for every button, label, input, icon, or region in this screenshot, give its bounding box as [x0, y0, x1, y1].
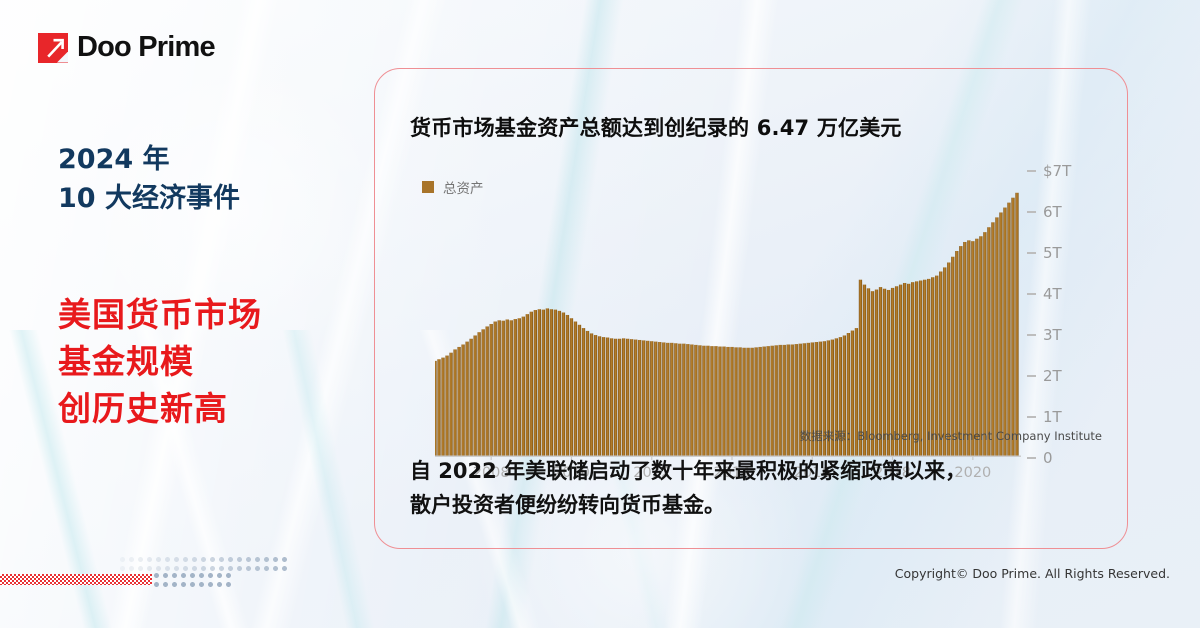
chart-bar: [642, 340, 645, 456]
chart-bar: [959, 246, 962, 456]
chart-bar: [586, 331, 589, 456]
chart-bar: [494, 322, 497, 456]
chart-bar: [478, 332, 481, 456]
y-tick-dash-icon: [1027, 170, 1036, 172]
y-tick-label: $7T: [1043, 162, 1071, 180]
chart-bar: [983, 232, 986, 456]
chart-bar: [694, 345, 697, 456]
chart-bar: [486, 326, 489, 456]
chart-bar: [506, 319, 509, 456]
chart-bar: [750, 348, 753, 456]
chart-bar: [638, 340, 641, 456]
y-tick-dash-icon: [1027, 293, 1036, 295]
page-subheadline: 美国货币市场 基金规模 创历史新高: [58, 292, 388, 433]
y-axis-tick: 3T: [1027, 326, 1062, 344]
chart-bar: [614, 339, 617, 456]
chart-bar: [702, 346, 705, 456]
chart-bar: [510, 320, 513, 456]
chart-bar: [554, 310, 557, 456]
subhead-line-3: 创历史新高: [58, 386, 388, 433]
chart-bar: [441, 358, 444, 456]
chart-bar: [654, 342, 657, 456]
y-tick-label: 2T: [1043, 367, 1062, 385]
chart-bar: [791, 344, 794, 456]
chart-bar: [570, 318, 573, 456]
chart-bar: [514, 319, 517, 456]
chart-bar: [518, 318, 521, 456]
chart-bar: [598, 336, 601, 456]
chart-bar: [594, 335, 597, 456]
chart-bar: [690, 344, 693, 456]
chart-bar: [566, 315, 569, 456]
chart-bar: [658, 342, 661, 456]
legend-swatch-icon: [422, 181, 434, 193]
headline-line-2: 10 大经济事件: [58, 179, 388, 218]
chart-bar: [602, 337, 605, 456]
chart-bar: [546, 308, 549, 456]
chart-bar: [718, 347, 721, 456]
chart-bar: [995, 217, 998, 456]
brand-logo[interactable]: Doo Prime: [38, 31, 215, 64]
chart-bar: [698, 345, 701, 456]
y-axis-tick: $7T: [1027, 162, 1071, 180]
chart-bar: [947, 262, 950, 456]
chart-bar: [987, 227, 990, 456]
y-axis-tick: 4T: [1027, 285, 1062, 303]
chart-bar: [706, 346, 709, 456]
chart-bar: [435, 361, 437, 456]
chart-bar: [534, 310, 537, 456]
y-tick-label: 6T: [1043, 203, 1062, 221]
chart-bar: [482, 329, 485, 456]
body-line-2: 散户投资者便纷纷转向货币基金。: [410, 488, 1100, 522]
chart-source-note: 数据来源：Bloomberg, Investment Company Insti…: [800, 428, 1102, 444]
y-axis-tick: 1T: [1027, 408, 1062, 426]
chart-bar: [775, 345, 778, 456]
chart-bar: [578, 325, 581, 456]
chart-bar: [766, 346, 769, 456]
chart-bar: [453, 349, 456, 456]
chart-bar: [473, 335, 476, 456]
y-tick-dash-icon: [1027, 375, 1036, 377]
chart-bar: [662, 342, 665, 456]
chart-bar: [634, 340, 637, 456]
decorative-red-band: [0, 574, 152, 585]
y-axis-tick: 5T: [1027, 244, 1062, 262]
chart-bar: [771, 346, 774, 456]
chart-y-axis: 01T2T3T4T5T6T$7T: [1027, 165, 1117, 465]
chart-bar: [795, 344, 798, 456]
chart-bar: [979, 236, 982, 456]
chart-bar: [787, 344, 790, 456]
chart-bar: [971, 241, 974, 456]
chart-card: 货币市场基金资产总额达到创纪录的 6.47 万亿美元 总资产 01T2T3T4T…: [374, 68, 1128, 549]
y-tick-label: 3T: [1043, 326, 1062, 344]
chart-bars: [435, 164, 1021, 460]
y-tick-dash-icon: [1027, 252, 1036, 254]
y-tick-label: 1T: [1043, 408, 1062, 426]
chart-bar: [618, 339, 621, 456]
chart-bar: [522, 317, 525, 456]
chart-bar: [670, 343, 673, 456]
chart-bar: [682, 344, 685, 456]
chart-bar: [449, 353, 452, 456]
chart-bar: [678, 344, 681, 456]
chart-bar: [1015, 193, 1018, 456]
subhead-line-1: 美国货币市场: [58, 292, 388, 339]
chart-bar: [779, 345, 782, 456]
page-headline: 2024 年 10 大经济事件: [58, 140, 388, 218]
chart-bar: [963, 242, 966, 456]
brand-name: Doo Prime: [77, 31, 215, 64]
chart-bar: [445, 356, 448, 456]
chart-bar: [582, 328, 585, 456]
chart-bar: [742, 348, 745, 456]
y-tick-label: 5T: [1043, 244, 1062, 262]
chart-bar: [991, 222, 994, 456]
chart-bar: [469, 339, 472, 456]
chart-bar: [457, 347, 460, 456]
chart-bar: [754, 347, 757, 456]
chart-bar: [686, 344, 689, 456]
chart-bar: [999, 212, 1002, 456]
chart-bar: [502, 321, 505, 456]
chart-bar: [622, 338, 625, 456]
subhead-line-2: 基金规模: [58, 339, 388, 386]
chart-bar: [726, 347, 729, 456]
chart-bar: [1003, 208, 1006, 456]
body-line-1: 自 2022 年美联储启动了数十年来最积极的紧缩政策以来，: [410, 454, 1100, 488]
chart-plot-area: [435, 164, 1021, 460]
chart-bar: [461, 344, 464, 456]
chart-bar: [746, 348, 749, 456]
headline-line-1: 2024 年: [58, 140, 388, 179]
chart-bar: [574, 322, 577, 456]
chart-bar: [674, 343, 677, 456]
y-tick-dash-icon: [1027, 416, 1036, 418]
copyright-notice: Copyright© Doo Prime. All Rights Reserve…: [895, 566, 1170, 581]
doo-prime-logo-icon: [38, 33, 68, 63]
chart-bar: [498, 320, 501, 456]
chart-bar: [490, 324, 493, 456]
y-tick-dash-icon: [1027, 334, 1036, 336]
chart-bar: [967, 240, 970, 456]
chart-bar: [526, 314, 529, 456]
y-axis-tick: 6T: [1027, 203, 1062, 221]
chart-bar: [975, 239, 978, 456]
chart-bar: [650, 341, 653, 456]
chart-bar: [538, 309, 541, 456]
y-tick-label: 4T: [1043, 285, 1062, 303]
chart-bar: [951, 257, 954, 456]
chart-bar: [762, 347, 765, 456]
y-tick-dash-icon: [1027, 211, 1036, 213]
chart-bar: [722, 347, 725, 456]
chart-bar: [783, 345, 786, 456]
chart-bar: [666, 343, 669, 456]
chart-bar: [437, 359, 440, 456]
chart-bar: [590, 333, 593, 456]
decorative-accent: [0, 555, 300, 595]
chart-bar: [1011, 198, 1014, 456]
chart-bar: [550, 309, 553, 456]
chart-bar: [734, 347, 737, 456]
chart-bar: [606, 338, 609, 456]
chart-bar: [1007, 203, 1010, 456]
chart-bar: [465, 342, 468, 456]
chart-bar: [558, 311, 561, 456]
chart-bar: [955, 251, 958, 456]
chart-bar: [530, 312, 533, 456]
logo-arrow-icon: [47, 38, 64, 58]
chart-bar: [714, 346, 717, 456]
chart-bar: [738, 347, 741, 456]
chart-bar: [630, 339, 633, 456]
chart-bar: [610, 338, 613, 456]
chart-bar: [758, 347, 761, 456]
decorative-dot-grid-2: [152, 571, 234, 588]
chart-bar: [646, 341, 649, 456]
chart-bar: [626, 339, 629, 456]
chart-title: 货币市场基金资产总额达到创纪录的 6.47 万亿美元: [410, 112, 902, 142]
card-body-text: 自 2022 年美联储启动了数十年来最积极的紧缩政策以来， 散户投资者便纷纷转向…: [410, 454, 1100, 522]
chart-bar: [542, 310, 545, 456]
chart-bar: [710, 346, 713, 456]
chart-bar: [730, 347, 733, 456]
chart-bar: [562, 313, 565, 457]
y-axis-tick: 2T: [1027, 367, 1062, 385]
